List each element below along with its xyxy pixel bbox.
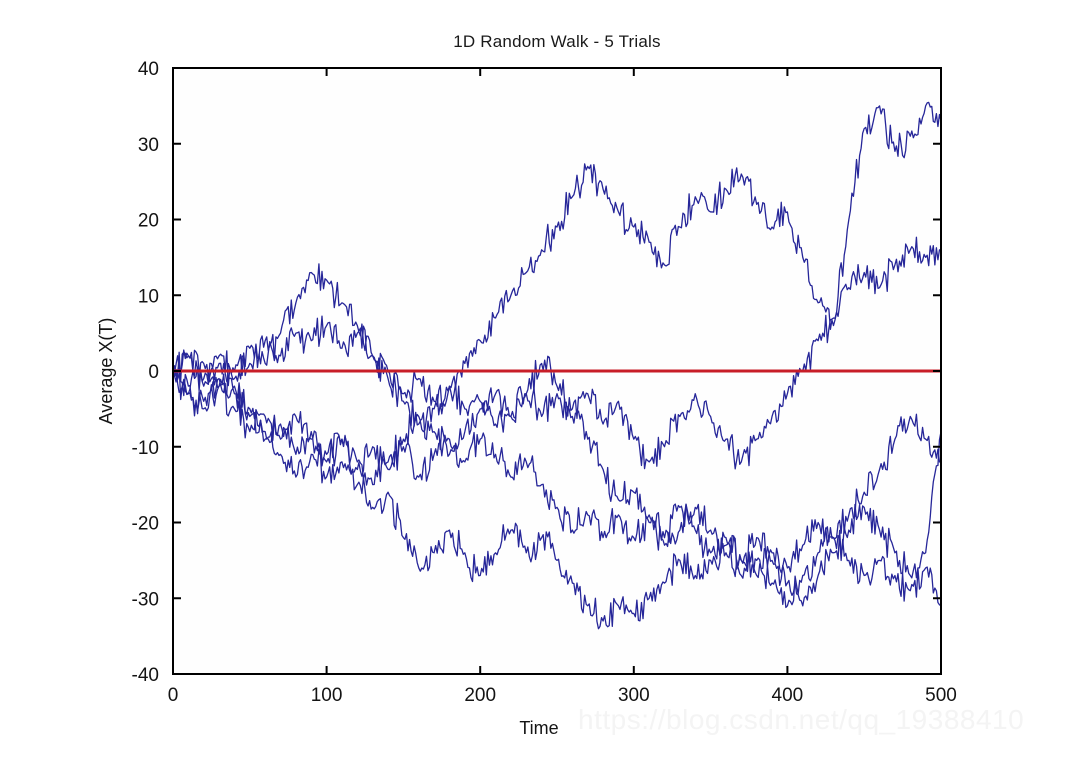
y-tick-label--40: -40 bbox=[132, 665, 159, 686]
y-tick-label-30: 30 bbox=[138, 135, 159, 156]
x-axis-title: Time bbox=[519, 718, 558, 738]
y-tick-label--20: -20 bbox=[132, 514, 159, 535]
x-tick-label-0: 0 bbox=[168, 685, 179, 706]
watermark-text: https://blog.csdn.net/qq_19388410 bbox=[578, 704, 1024, 736]
y-tick-label--10: -10 bbox=[132, 438, 159, 459]
x-tick-label-300: 300 bbox=[618, 685, 650, 706]
x-tick-label-200: 200 bbox=[464, 685, 496, 706]
y-tick-label-40: 40 bbox=[138, 59, 159, 80]
chart-plot[interactable]: 0100200300400500403020100-10-20-30-40Tim… bbox=[0, 0, 1080, 765]
x-tick-label-500: 500 bbox=[925, 685, 957, 706]
y-tick-label--30: -30 bbox=[132, 589, 159, 610]
y-axis-title: Average X(T) bbox=[96, 318, 116, 425]
y-tick-label-0: 0 bbox=[148, 362, 159, 383]
figure-canvas: 1D Random Walk - 5 Trials 01002003004005… bbox=[0, 0, 1080, 765]
x-tick-label-400: 400 bbox=[772, 685, 804, 706]
y-tick-label-10: 10 bbox=[138, 286, 159, 307]
x-tick-label-100: 100 bbox=[311, 685, 343, 706]
y-tick-label-20: 20 bbox=[138, 211, 159, 232]
